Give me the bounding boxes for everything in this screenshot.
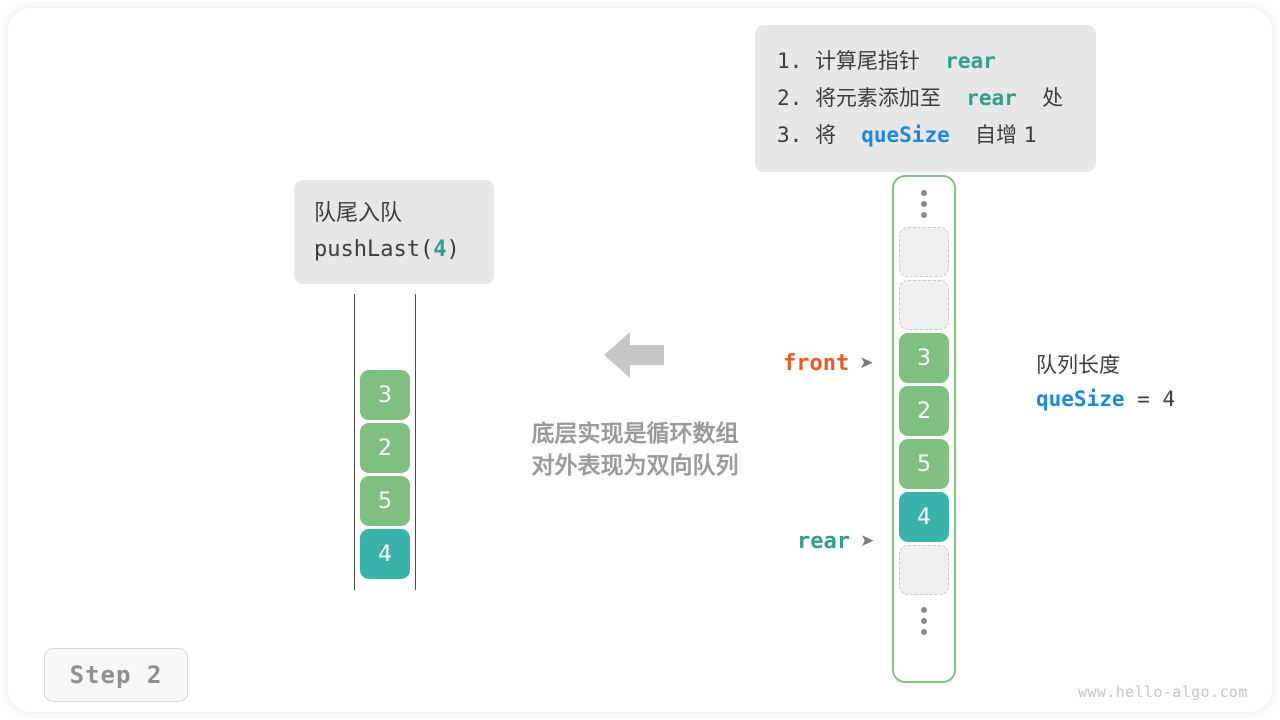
instruction-2-suffix: 处	[1042, 86, 1063, 110]
instruction-1-prefix: 1.	[777, 49, 815, 73]
instruction-3-code: queSize	[861, 123, 950, 147]
operation-call-close: )	[446, 237, 459, 262]
deque-abstract-view: 3 2 5 4	[354, 294, 416, 590]
array-cell: 5	[899, 439, 949, 489]
array-cell	[899, 545, 949, 595]
instruction-2-text: 将元素添加至	[815, 86, 941, 110]
instruction-line-1: 1. 计算尾指针 rear	[777, 43, 1074, 80]
queue-size-title: 队列长度	[1036, 348, 1175, 382]
circular-array-view: 3 2 5 4	[892, 175, 956, 683]
queue-size-info: 队列长度 queSize = 4	[1036, 348, 1175, 416]
step-badge: Step 2	[44, 648, 188, 702]
caption-line-1: 底层实现是循环数组	[510, 418, 760, 450]
deque-rail-left	[354, 294, 355, 590]
queue-size-equals: =	[1125, 387, 1163, 411]
rear-pointer-arrow-icon: ➤	[860, 533, 874, 550]
instruction-line-2: 2. 将元素添加至 rear 处	[777, 80, 1074, 117]
operation-label-box: 队尾入队 pushLast(4)	[294, 180, 494, 284]
watermark: www.hello-algo.com	[1078, 683, 1248, 701]
instruction-2-prefix: 2.	[777, 86, 815, 110]
front-pointer: front ➤	[783, 351, 873, 376]
array-cell: 3	[899, 333, 949, 383]
instruction-3-text: 将	[815, 123, 836, 147]
operation-title: 队尾入队	[314, 196, 474, 232]
vertical-dots-icon	[894, 181, 954, 227]
front-pointer-label: front	[783, 351, 849, 376]
deque-cell-stack: 3 2 5 4	[357, 370, 413, 582]
queue-size-value-row: queSize = 4	[1036, 382, 1175, 416]
instruction-3-suffix: 自增 1	[975, 123, 1037, 147]
instruction-1-code: rear	[945, 49, 996, 73]
instruction-box: 1. 计算尾指针 rear 2. 将元素添加至 rear 处 3. 将 queS…	[755, 25, 1096, 172]
page-card: 1. 计算尾指针 rear 2. 将元素添加至 rear 处 3. 将 queS…	[8, 8, 1272, 712]
instruction-line-3: 3. 将 queSize 自增 1	[777, 117, 1074, 154]
array-cell: 4	[899, 492, 949, 542]
queue-size-var: queSize	[1036, 387, 1125, 411]
caption-line-2: 对外表现为双向队列	[510, 450, 760, 482]
queue-size-number: 4	[1162, 387, 1175, 411]
rear-pointer: rear ➤	[797, 529, 874, 554]
instruction-1-text: 计算尾指针	[815, 49, 920, 73]
array-cell	[899, 280, 949, 330]
operation-call: pushLast(4)	[314, 232, 474, 268]
front-pointer-arrow-icon: ➤	[859, 355, 873, 372]
instruction-2-code: rear	[966, 86, 1017, 110]
deque-cell: 2	[360, 423, 410, 473]
instruction-3-prefix: 3.	[777, 123, 815, 147]
operation-call-arg: 4	[433, 237, 446, 262]
left-arrow-icon	[604, 330, 664, 380]
array-cell: 2	[899, 386, 949, 436]
deque-rail-right	[415, 294, 416, 590]
operation-call-name: pushLast(	[314, 237, 433, 262]
center-caption: 底层实现是循环数组 对外表现为双向队列	[510, 418, 760, 482]
deque-cell: 3	[360, 370, 410, 420]
rear-pointer-label: rear	[797, 529, 850, 554]
array-cell	[899, 227, 949, 277]
deque-cell: 5	[360, 476, 410, 526]
vertical-dots-icon	[894, 598, 954, 644]
deque-cell: 4	[360, 529, 410, 579]
